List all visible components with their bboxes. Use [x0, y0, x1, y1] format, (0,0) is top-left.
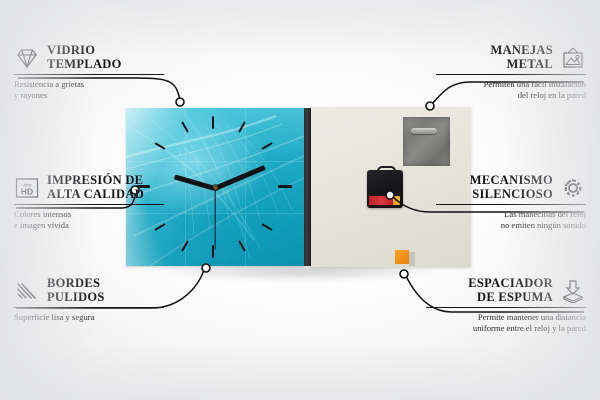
callout-divider: [436, 74, 586, 75]
foam-spacer-icon: [560, 279, 586, 303]
callout-title: MANEJAS METAL: [490, 44, 553, 71]
connector-dot-mecanismo: [386, 191, 394, 199]
callout-bordes-pulidos: BORDES PULIDOS Superficie lisa y segura: [14, 277, 164, 323]
callout-vidrio-templado: VIDRIO TEMPLADO Resistencia a grietas y …: [14, 44, 164, 100]
callout-header: MECANISMO SILENCIOSO: [436, 174, 586, 201]
callout-impresion-alta-calidad: ultra HD IMPRESIÓN DE ALTA CALIDAD Color…: [14, 174, 164, 230]
callout-manejas-metal: MANEJAS METAL Permiten una fácil instala…: [436, 44, 586, 100]
callout-mecanismo-silencioso: MECANISMO SILENCIOSO Las manecillas del …: [436, 174, 586, 230]
polished-edges-icon: [14, 279, 40, 303]
callout-title: IMPRESIÓN DE ALTA CALIDAD: [47, 174, 144, 201]
diamond-icon: [14, 46, 40, 70]
callout-title: BORDES PULIDOS: [47, 277, 105, 304]
svg-text:HD: HD: [21, 186, 33, 196]
gear-icon: [560, 176, 586, 200]
callout-divider: [14, 74, 164, 75]
callout-espaciador-espuma: ESPACIADOR DE ESPUMA Permite mantener un…: [426, 277, 586, 333]
callout-title: ESPACIADOR DE ESPUMA: [468, 277, 553, 304]
callout-header: ESPACIADOR DE ESPUMA: [426, 277, 586, 304]
ultra-hd-icon: ultra HD: [14, 176, 40, 200]
connector-dot-espaciador: [400, 270, 408, 278]
callout-description-line: Permite mantener una distancia: [426, 312, 586, 323]
callout-description-line: Superficie lisa y segura: [14, 312, 164, 323]
callout-description-line: e imagen vívida: [14, 220, 164, 231]
callout-description-line: Resistencia a grietas: [14, 79, 164, 90]
callout-description-line: y rayones: [14, 90, 164, 101]
callout-header: MANEJAS METAL: [436, 44, 586, 71]
callout-description-line: Permiten una fácil instalación: [436, 79, 586, 90]
connector-dot-manejas: [426, 102, 434, 110]
connector-dot-vidrio: [176, 98, 184, 106]
callout-description-line: no emiten ningún sonido: [436, 220, 586, 231]
connector-dot-bordes: [202, 264, 210, 272]
picture-hanger-icon: [560, 46, 586, 70]
callout-description-line: uniforme entre el reloj y la pared: [426, 323, 586, 334]
callout-divider: [436, 204, 586, 205]
callout-divider: [14, 307, 164, 308]
callout-description-line: del reloj en la pared: [436, 90, 586, 101]
callout-header: VIDRIO TEMPLADO: [14, 44, 164, 71]
callout-divider: [14, 204, 164, 205]
callout-description-line: Las manecillas del reloj: [436, 209, 586, 220]
callout-header: BORDES PULIDOS: [14, 277, 164, 304]
callout-title: VIDRIO TEMPLADO: [47, 44, 122, 71]
infographic-stage: VIDRIO TEMPLADO Resistencia a grietas y …: [0, 0, 600, 400]
callout-header: ultra HD IMPRESIÓN DE ALTA CALIDAD: [14, 174, 164, 201]
callout-title: MECANISMO SILENCIOSO: [470, 174, 553, 201]
callout-description-line: Colores intensos: [14, 209, 164, 220]
callout-divider: [426, 307, 586, 308]
